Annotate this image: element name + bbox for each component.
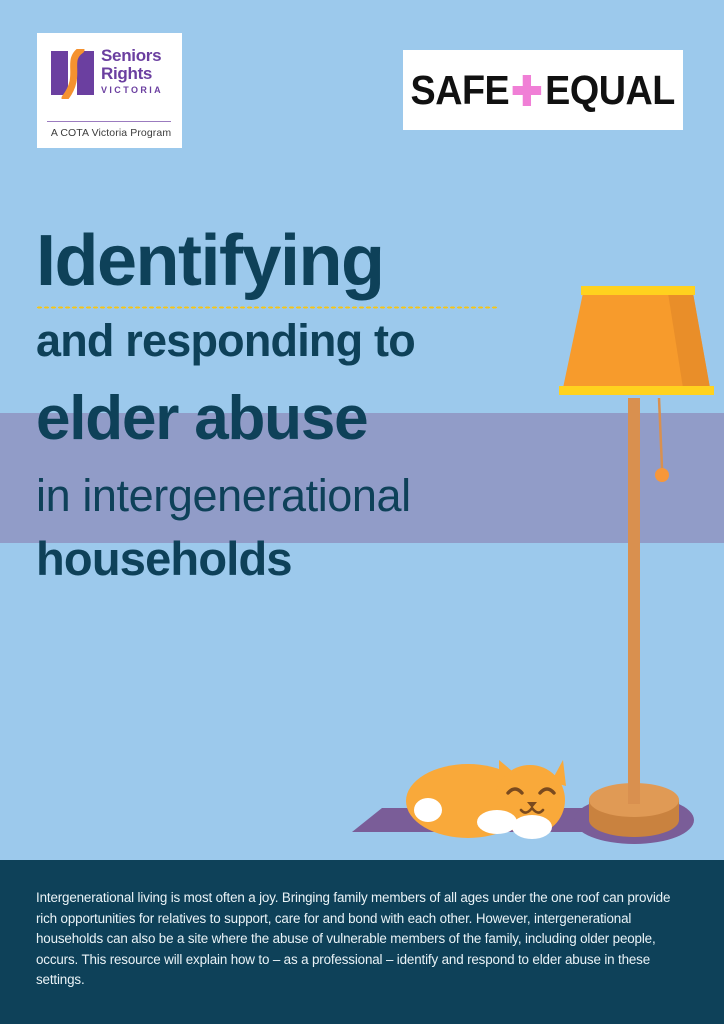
title-line-identifying: Identifying bbox=[36, 224, 556, 298]
safe-equal-word-equal: EQUAL bbox=[545, 70, 675, 111]
lamp-shade bbox=[563, 293, 710, 388]
cat-body bbox=[406, 764, 530, 838]
srv-line-victoria: VICTORIA bbox=[101, 85, 179, 96]
lamp-base-shadow bbox=[574, 796, 694, 844]
lamp-base-top bbox=[589, 783, 679, 817]
cat-eye-right bbox=[540, 789, 554, 793]
cat-paw-left bbox=[477, 810, 517, 834]
safe-equal-wordmark: SAFE EQUAL bbox=[411, 70, 675, 111]
lamp-base-bottom bbox=[589, 803, 679, 837]
safe-equal-word-safe: SAFE bbox=[411, 70, 510, 111]
cat-tail-paw bbox=[414, 798, 442, 822]
floor-rug bbox=[352, 808, 640, 832]
cat-ear-left bbox=[499, 760, 518, 786]
lamp-shade-top-trim bbox=[581, 286, 695, 295]
srv-tagline: A COTA Victoria Program bbox=[47, 127, 175, 139]
page-title: Identifying and responding to elder abus… bbox=[36, 224, 556, 586]
srv-divider bbox=[47, 121, 171, 122]
dotted-divider bbox=[36, 306, 499, 309]
cat-mouth bbox=[521, 808, 543, 813]
poster-cover: Seniors Rights VICTORIA A COTA Victoria … bbox=[0, 0, 724, 1024]
intro-paragraph: Intergenerational living is most often a… bbox=[36, 888, 694, 991]
safe-equal-logo: SAFE EQUAL bbox=[403, 50, 683, 130]
cat-paw-right bbox=[512, 815, 552, 839]
srv-mark-icon bbox=[51, 49, 96, 99]
srv-wordmark: Seniors Rights VICTORIA bbox=[101, 47, 179, 96]
title-line-households: households bbox=[36, 532, 556, 586]
title-line-and-responding-to: and responding to bbox=[36, 315, 556, 367]
seniors-rights-victoria-logo: Seniors Rights VICTORIA A COTA Victoria … bbox=[37, 33, 182, 148]
srv-line-seniors: Seniors bbox=[101, 47, 179, 64]
lamp-shade-shading bbox=[668, 293, 710, 388]
cat-head bbox=[495, 765, 565, 835]
cat-eye-left bbox=[508, 789, 522, 793]
srv-logo-top: Seniors Rights VICTORIA bbox=[47, 45, 172, 107]
title-line-elder-abuse: elder abuse bbox=[36, 385, 556, 453]
cat-nose bbox=[527, 802, 537, 808]
lamp-shade-bottom-trim bbox=[559, 386, 714, 395]
cat-ear-right bbox=[551, 760, 566, 786]
title-line-in-intergenerational: in intergenerational bbox=[36, 470, 556, 522]
plus-icon bbox=[513, 75, 542, 106]
lamp-base-side bbox=[589, 800, 679, 820]
srv-line-rights: Rights bbox=[101, 65, 179, 82]
